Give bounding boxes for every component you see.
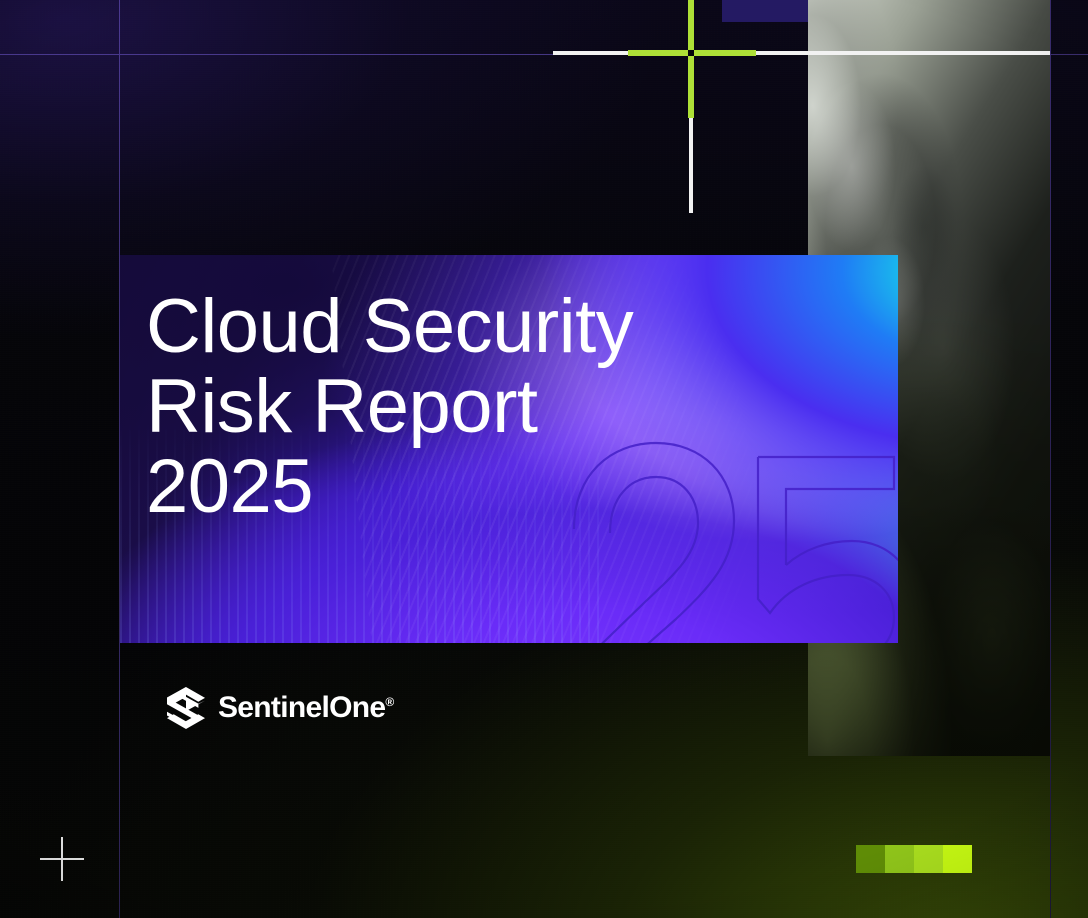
crosshair-vertical-white — [689, 117, 693, 213]
page-title: Cloud Security Risk Report 2025 — [146, 287, 633, 527]
sentinelone-wordmark: SentinelOne® — [218, 693, 394, 723]
crosshair-vertical-lime — [688, 0, 694, 118]
swatch-1 — [856, 845, 885, 873]
crosshair-center-dot — [688, 50, 694, 56]
brand-name-text: SentinelOne — [218, 691, 385, 724]
swatch-3 — [914, 845, 943, 873]
hero-gradient-card: Cloud Security Risk Report 2025 — [120, 255, 898, 643]
swatch-2 — [885, 845, 914, 873]
plus-icon-vertical — [61, 837, 63, 881]
blue-rectangle — [722, 0, 808, 22]
lime-swatch-bars — [856, 845, 972, 873]
grid-line-vertical-right — [1050, 0, 1051, 918]
sentinelone-logo[interactable]: SentinelOne® — [167, 687, 394, 729]
report-cover: Cloud Security Risk Report 2025 Sentinel… — [0, 0, 1088, 918]
trademark-symbol: ® — [385, 695, 393, 709]
sentinelone-s-hexagon-icon — [167, 687, 205, 729]
swatch-4 — [943, 845, 972, 873]
plus-icon — [40, 837, 84, 881]
